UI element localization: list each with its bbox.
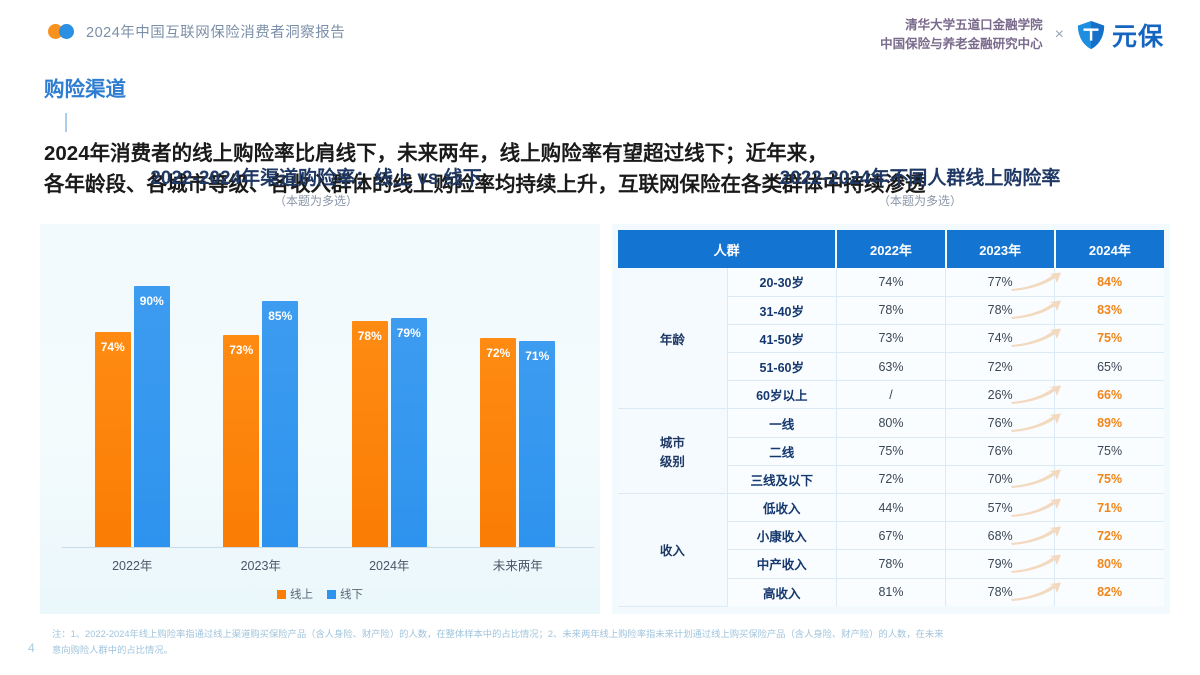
chart-legend-swatch [327,590,336,599]
table-cell-2022: 44% [836,494,945,522]
chart-bar: 73% [223,335,259,547]
table-row-label: 60岁以上 [727,381,836,409]
table-cell-2024: 82% [1055,578,1164,606]
chart-bar-groups: 74%90%73%85%78%79%72%71% [68,236,582,547]
table-cell-2023: 76% [946,409,1055,437]
table-cell-2024: 75% [1055,437,1164,465]
page-number: 4 [28,641,35,655]
heading-line-1: 2024年消费者的线上购险率比肩线下，未来两年，线上购险率有望超过线下；近年来， [44,142,828,165]
table-cell-2022: 63% [836,353,945,381]
table-row-label: 31-40岁 [727,296,836,324]
table-cell-2023: 26% [946,381,1055,409]
table-cell-2024: 80% [1055,550,1164,578]
university-line-2: 中国保险与养老金融研究中心 [880,35,1043,54]
chart-x-tick: 2024年 [334,555,444,574]
table-cell-2024: 89% [1055,409,1164,437]
yuanbao-logo: 元保 [1076,17,1164,53]
table-cell-2024: 65% [1055,353,1164,381]
table-cell-2023: 78% [946,578,1055,606]
table-cell-2022: 78% [836,550,945,578]
table-row-label: 中产收入 [727,550,836,578]
population-table: 人群 2022年 2023年 2024年 年龄20-30岁74%77%84%31… [618,230,1164,607]
table-body: 年龄20-30岁74%77%84%31-40岁78%78%83%41-50岁73… [618,268,1164,606]
table-cell-2024-value: 82% [1097,585,1122,599]
chart-legend-label: 线下 [340,586,363,602]
table-cell-2024-value: 89% [1097,416,1122,430]
chart-bar-value: 71% [525,349,549,363]
chart-x-axis [62,547,594,548]
table-row-label: 小康收入 [727,522,836,550]
table-cell-2022: 81% [836,578,945,606]
table-cell-2023: 72% [946,353,1055,381]
table-category-cell: 收入 [618,494,727,607]
chart-group: 78%79% [334,318,444,547]
table-cell-2024-value: 65% [1097,360,1122,374]
table-row-label: 41-50岁 [727,324,836,352]
footnote: 注：1、2022-2024年线上购险率指通过线上渠道购买保险产品（含人身险、财产… [52,627,1182,659]
table-cell-2024: 75% [1055,465,1164,493]
table-row-label: 51-60岁 [727,353,836,381]
table-cell-2022: / [836,381,945,409]
table-cell-2023: 78% [946,296,1055,324]
table-cell-2023: 74% [946,324,1055,352]
table-head: 人群 2022年 2023年 2024年 [618,230,1164,268]
table-cell-2023: 70% [946,465,1055,493]
chart-group: 74%90% [77,286,187,547]
table-header-2023: 2023年 [946,230,1055,268]
chart-bar-value: 90% [140,294,164,308]
table-cell-2024-value: 72% [1097,529,1122,543]
chart-bar-value: 73% [229,343,253,357]
table-cell-2022: 75% [836,437,945,465]
table-cell-2022: 74% [836,268,945,296]
chart-bar-value: 78% [358,329,382,343]
table-row-label: 二线 [727,437,836,465]
chart-bar: 79% [391,318,427,547]
table-cell-2024-value: 75% [1097,444,1122,458]
table-cell-2022: 73% [836,324,945,352]
chart-bar: 78% [352,321,388,547]
population-table-wrapper: 人群 2022年 2023年 2024年 年龄20-30岁74%77%84%31… [612,224,1170,614]
heading-tag: 购险渠道 [44,78,126,101]
brand-logo [48,24,74,39]
yuanbao-logo-text: 元保 [1112,17,1164,53]
chart-legend-item[interactable]: 线下 [327,586,363,602]
table-cell-2024-value: 80% [1097,557,1122,571]
bar-chart: 74%90%73%85%78%79%72%71% 2022年2023年2024年… [40,224,600,614]
table-row: 收入低收入44%57%71% [618,494,1164,522]
chart-bar: 71% [519,341,555,547]
footnote-line-1: 注：1、2022-2024年线上购险率指通过线上渠道购买保险产品（含人身险、财产… [52,627,1182,643]
chart-legend-swatch [277,590,286,599]
chart-bar-value: 72% [486,346,510,360]
table-row-label: 低收入 [727,494,836,522]
table-header-group: 人群 [618,230,836,268]
chart-bar: 85% [262,301,298,548]
table-cell-2023: 76% [946,437,1055,465]
table-cell-2024: 83% [1055,296,1164,324]
table-cell-2024: 84% [1055,268,1164,296]
university-line-1: 清华大学五道口金融学院 [880,16,1043,35]
table-cell-2024-value: 75% [1097,472,1122,486]
table-row-label: 20-30岁 [727,268,836,296]
table-cell-2024: 66% [1055,381,1164,409]
chart-bar-value: 74% [101,340,125,354]
chart-legend-item[interactable]: 线上 [277,586,313,602]
table-cell-2024-value: 66% [1097,388,1122,402]
report-title: 2024年中国互联网保险消费者洞察报告 [86,21,345,42]
table-cell-2023: 57% [946,494,1055,522]
chart-legend: 线上线下 [40,586,600,602]
left-chart-title: 2022-2024年渠道购险率：线上 vs 线下 [56,163,576,190]
table-cell-2022: 80% [836,409,945,437]
heading-divider: | [48,106,84,138]
table-cell-2022: 72% [836,465,945,493]
table-header-row: 人群 2022年 2023年 2024年 [618,230,1164,268]
table-cell-2024: 71% [1055,494,1164,522]
chart-bar: 74% [95,332,131,547]
right-table-title: 2022-2024年不同人群线上购险率 [660,163,1180,190]
slide-header: 2024年中国互联网保险消费者洞察报告 清华大学五道口金融学院 中国保险与养老金… [0,0,1200,62]
table-row-label: 高收入 [727,578,836,606]
right-table-subtitle: （本题为多选） [660,192,1180,209]
chart-bar-value: 85% [268,309,292,323]
table-cell-2024: 72% [1055,522,1164,550]
table-cell-2024-value: 71% [1097,501,1122,515]
table-cell-2022: 78% [836,296,945,324]
chart-bar: 72% [480,338,516,547]
slide-root: 2024年中国互联网保险消费者洞察报告 清华大学五道口金融学院 中国保险与养老金… [0,0,1200,675]
table-category-cell: 城市级别 [618,409,727,494]
table-category-cell: 年龄 [618,268,727,409]
chart-x-tick: 2023年 [206,555,316,574]
chart-bar-value: 79% [397,326,421,340]
table-header-2024: 2024年 [1055,230,1164,268]
chart-x-tick: 2022年 [77,555,187,574]
table-cell-2024-value: 75% [1097,331,1122,345]
university-name: 清华大学五道口金融学院 中国保险与养老金融研究中心 [880,16,1043,54]
table-row: 年龄20-30岁74%77%84% [618,268,1164,296]
table-cell-2023: 79% [946,550,1055,578]
chart-group: 73%85% [206,301,316,548]
table-cell-2023: 68% [946,522,1055,550]
footnote-line-2: 意向购险人群中的占比情况。 [52,643,1182,659]
shield-icon [1076,20,1106,50]
table-header-2022: 2022年 [836,230,945,268]
table-cell-2023: 77% [946,268,1055,296]
times-symbol: × [1055,26,1064,44]
table-row-label: 一线 [727,409,836,437]
chart-x-tick: 未来两年 [463,555,573,574]
chart-bar: 90% [134,286,170,547]
brand-dot-blue-icon [59,24,74,39]
chart-legend-label: 线上 [290,586,313,602]
table-row: 城市级别一线80%76%89% [618,409,1164,437]
table-cell-2024-value: 84% [1097,275,1122,289]
table-cell-2022: 67% [836,522,945,550]
chart-x-tick-labels: 2022年2023年2024年未来两年 [68,555,582,574]
header-partners: 清华大学五道口金融学院 中国保险与养老金融研究中心 × 元保 [880,16,1164,54]
table-cell-2024: 75% [1055,324,1164,352]
chart-group: 72%71% [463,338,573,547]
left-chart-subtitle: （本题为多选） [56,192,576,209]
table-row-label: 三线及以下 [727,465,836,493]
table-cell-2024-value: 83% [1097,303,1122,317]
